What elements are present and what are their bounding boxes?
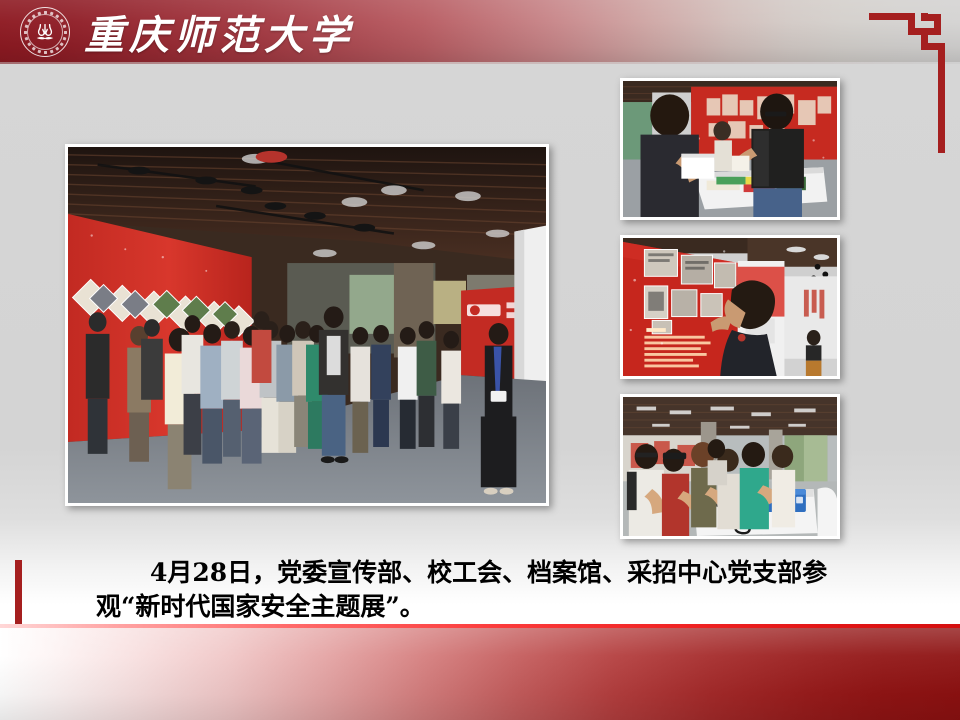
bottom-band-sheen	[0, 628, 960, 720]
corner-ornament-top-right	[869, 13, 947, 153]
university-wordmark: 重庆师范大学	[84, 6, 354, 58]
seal-flame-book-emblem	[34, 21, 56, 43]
presentation-slide: 重庆师范大学	[0, 0, 960, 720]
photo-exhibition-hall-group-tour	[65, 144, 549, 506]
university-seal-icon	[20, 7, 70, 57]
photo-wall-panel-illustration	[623, 238, 837, 376]
photo-book-display-reading	[620, 78, 840, 220]
header-underline	[0, 62, 960, 64]
slide-caption: 4月28日，党委宣传部、校工会、档案馆、采招中心党支部参观“新时代国家安全主题展…	[96, 556, 866, 624]
photo-wall-panel-viewing	[620, 235, 840, 379]
photo-exhibition-hall-illustration	[68, 147, 546, 503]
photo-interactive-device-demo	[620, 394, 840, 539]
chinese-corner-ornament-icon	[869, 13, 947, 153]
photo-interactive-device-illustration	[623, 397, 837, 536]
photo-book-display-illustration	[623, 81, 837, 217]
